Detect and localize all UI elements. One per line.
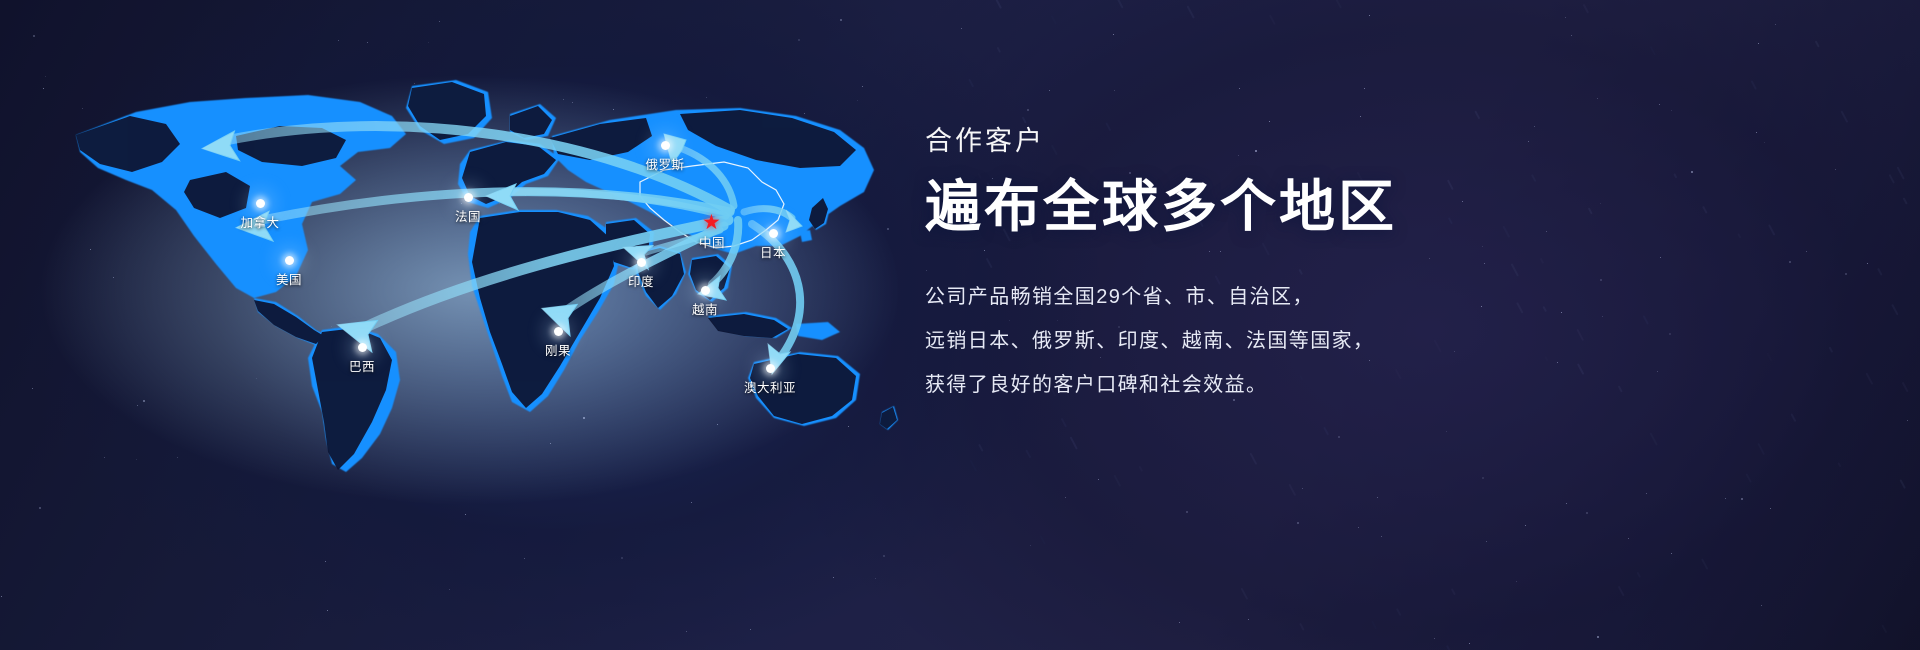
star-speck [1114,90,1115,91]
map-marker-label: 日本 [760,247,786,260]
star-speck [833,577,834,578]
star-speck [961,28,962,29]
dash-speck [1757,443,1764,455]
dash-speck [1618,586,1624,596]
hero-banner: 加拿大美国巴西法国俄罗斯刚果印度★中国日本越南澳大利亚 合作客户 遍布全球多个地… [0,0,1920,650]
panel-body-line: 获得了良好的客户口碑和社会效益。 [925,371,1825,400]
star-speck [1434,638,1435,639]
dash-speck [1882,625,1888,634]
map-marker-label: 加拿大 [240,217,279,230]
star-speck [1835,169,1836,170]
star-speck [524,558,525,559]
world-map-svg [40,40,940,510]
location-dot-icon [358,343,367,352]
star-speck [1571,35,1572,36]
dash-speck [1187,5,1195,18]
location-dot-icon [285,256,294,265]
dash-speck [1114,475,1122,487]
dash-speck [1051,15,1057,25]
location-dot-icon [554,327,563,336]
location-dot-icon [661,141,670,150]
map-marker-label: 刚果 [545,345,571,358]
star-speck [1741,498,1743,500]
dash-speck [1022,117,1026,124]
star-speck [1369,15,1370,16]
dash-speck [1897,167,1905,180]
dash-speck [969,79,974,87]
star-speck [1566,503,1567,504]
dash-speck [978,444,983,452]
dash-speck [1650,433,1658,446]
star-speck [327,610,328,611]
dash-speck [1475,110,1481,119]
star-speck [1586,512,1588,514]
star-speck [1671,110,1672,111]
dash-speck [1040,535,1046,544]
map-marker-label: 法国 [455,211,481,224]
dash-speck [1701,558,1708,569]
dash-speck [1371,621,1376,629]
dash-speck [1397,608,1402,615]
star-speck [686,631,687,632]
star-speck [465,514,466,515]
star-speck [1565,17,1566,18]
map-marker-label: 越南 [692,304,718,317]
star-speck [325,561,326,562]
dash-speck [1026,449,1032,458]
map-marker-label: 印度 [628,276,654,289]
dash-speck [970,459,978,472]
star-speck [1867,263,1868,264]
dash-speck [1269,14,1276,25]
world-map: 加拿大美国巴西法国俄罗斯刚果印度★中国日本越南澳大利亚 [40,40,940,510]
star-speck [1725,498,1726,499]
map-marker-label: 美国 [276,274,302,287]
dash-speck [1241,587,1249,599]
star-speck [1360,116,1361,117]
dash-speck [1815,41,1819,48]
star-speck [840,19,842,21]
star-speck [1597,636,1599,638]
dash-speck [1878,268,1883,276]
star-speck [1049,90,1050,91]
dash-speck [1650,46,1656,56]
star-speck [1628,538,1629,539]
star-speck [1377,497,1378,498]
star-speck [1761,605,1762,606]
star-speck [1775,24,1776,25]
star-speck [449,589,450,590]
dash-speck [1866,373,1874,385]
dash-speck [1889,174,1895,183]
location-dot-icon [701,286,710,295]
panel-body-line: 远销日本、俄罗斯、印度、越南、法国等国家， [925,327,1825,356]
dash-speck [1139,465,1143,471]
star-speck [883,555,885,557]
star-speck [1525,525,1526,526]
dash-speck [1892,304,1899,316]
star-speck [1358,527,1359,528]
location-dot-icon [637,258,646,267]
dash-speck [1452,588,1457,595]
star-speck [1364,88,1365,89]
star-speck [750,629,751,630]
star-speck [1597,98,1598,99]
dash-speck [1841,110,1849,123]
star-speck [32,388,33,389]
location-dot-icon [256,199,265,208]
map-marker-label: 中国 [699,237,725,250]
star-speck [1845,273,1847,275]
star-speck [1646,493,1647,494]
star-speck [1027,109,1029,111]
star-speck [1269,121,1270,122]
dash-speck [1837,462,1841,467]
page-title: 遍布全球多个地区 [925,177,1825,237]
dash-speck [1446,645,1451,650]
star-speck [1065,497,1066,498]
map-marker-label: 俄罗斯 [645,159,684,172]
star-speck [1770,508,1771,509]
star-speck [1179,622,1180,623]
dash-speck [1070,437,1078,450]
map-marker-label: 巴西 [349,361,375,374]
dash-speck [1249,453,1257,465]
dash-speck [1900,479,1906,488]
star-speck [1516,581,1517,582]
star-speck [1248,619,1249,620]
dash-speck [1903,198,1907,205]
star-speck [1113,34,1114,35]
location-dot-icon [766,364,775,373]
star-speck [1486,541,1487,542]
star-speck [1482,477,1484,479]
star-speck [1186,511,1188,513]
star-speck [621,557,623,559]
dash-speck [1746,474,1752,483]
star-speck [1381,536,1382,537]
star-speck [1297,522,1299,524]
dash-speck [1061,418,1067,428]
star-speck [875,578,876,579]
panel-eyebrow: 合作客户 [925,128,1825,155]
star-speck [1098,479,1099,480]
location-dot-icon [769,229,778,238]
dash-speck [1324,426,1329,434]
dash-speck [1299,623,1304,631]
dash-speck [1584,3,1590,13]
dash-speck [1334,0,1342,8]
star-speck [1758,43,1759,44]
dash-speck [1791,413,1797,422]
dash-speck [1289,484,1296,496]
dash-speck [1637,572,1641,578]
star-speck [1469,643,1470,644]
star-speck [1907,420,1908,421]
star-speck [1302,488,1303,489]
star-speck [1446,431,1447,432]
map-marker-label: 澳大利亚 [744,382,796,395]
dash-speck [1751,80,1757,89]
location-dot-icon [464,193,473,202]
star-speck [1,596,2,597]
dash-speck [997,47,1001,53]
star-speck [439,21,440,22]
star-speck [1659,104,1660,105]
star-speck [33,35,35,37]
dash-speck [1117,0,1124,9]
dash-speck [1829,346,1833,352]
panel-body-line: 公司产品畅销全国29个省、市、自治区， [925,283,1825,312]
dash-speck [1902,382,1908,392]
star-speck [1338,436,1340,438]
hero-text-panel: 合作客户 遍布全球多个地区 公司产品畅销全国29个省、市、自治区，远销日本、俄罗… [925,128,1825,400]
panel-body: 公司产品畅销全国29个省、市、自治区，远销日本、俄罗斯、印度、越南、法国等国家，… [925,283,1825,400]
star-speck [1239,88,1240,89]
star-speck [1030,545,1031,546]
dash-speck [996,0,1002,8]
star-speck [1671,553,1672,554]
